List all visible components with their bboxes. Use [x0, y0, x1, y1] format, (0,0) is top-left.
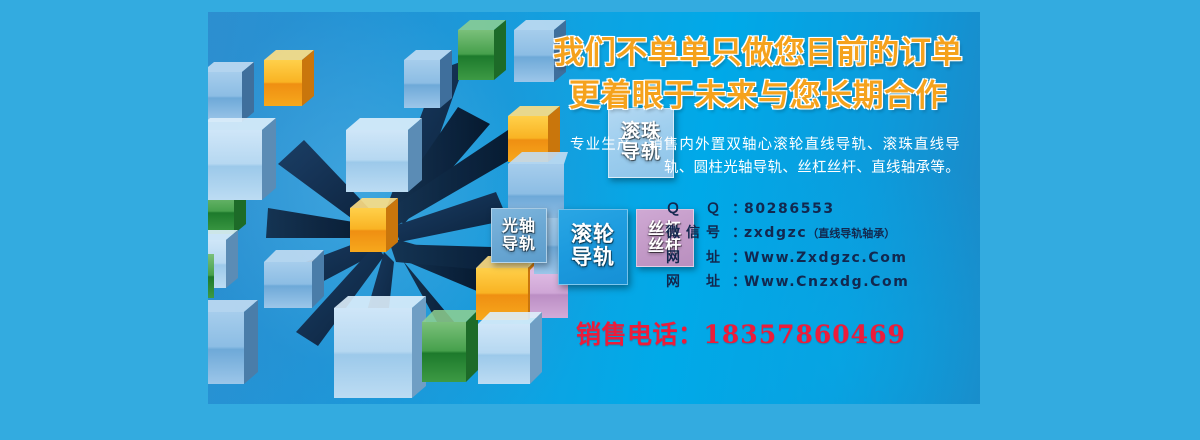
description-text: 专业生产、销售内外置双轴心滚轮直线导轨、滚珠直线导轨、圆柱光轴导轨、丝杠丝杆、直…: [548, 134, 968, 181]
contact-label-wechat: 微信号: [666, 221, 732, 245]
banner-text-column: 我们不单单只做您目前的订单 更着眼于未来与您长期合作 专业生产、销售内外置双轴心…: [548, 32, 968, 392]
contact-value-qq: 80286553: [744, 198, 835, 222]
contact-row-website-1: 网 址 ： Www.Zxdgzc.Com: [666, 246, 968, 271]
headline-line-1: 我们不单单只做您目前的订单: [548, 32, 968, 75]
contact-label-website: 网 址: [666, 246, 732, 270]
contact-row-wechat: 微信号 ： zxdgzc （直线导轨轴承）: [666, 221, 968, 246]
contact-colon: ：: [732, 221, 744, 245]
contact-value-website-1[interactable]: Www.Zxdgzc.Com: [744, 247, 908, 271]
contact-label-website: 网 址: [666, 270, 732, 294]
contact-colon: ：: [732, 197, 744, 221]
product-label-line2: 导轨: [502, 236, 536, 253]
contact-value-wechat: zxdgzc: [744, 222, 807, 246]
headline: 我们不单单只做您目前的订单 更着眼于未来与您长期合作: [548, 32, 968, 118]
sales-phone-label: 销售电话：: [576, 321, 704, 349]
promo-banner: 滚珠 导轨 光轴 导轨 滚轮 导轨 丝杠 丝杆 我们不单单只做您目前的订单 更着…: [0, 0, 1200, 440]
sales-phone-number: 18357860469: [704, 320, 906, 349]
contact-note-wechat: （直线导轨轴承）: [807, 225, 895, 243]
contact-row-qq: Ｑ Ｑ ： 80286553: [666, 197, 968, 222]
sales-phone: 销售电话：18357860469: [548, 315, 968, 351]
contact-colon: ：: [732, 270, 744, 294]
product-label-line1: 光轴: [502, 218, 536, 235]
product-label-guangzhou-daogui: 光轴 导轨: [491, 208, 547, 263]
contact-row-website-2: 网 址 ： Www.Cnzxdg.Com: [666, 270, 968, 295]
contact-value-website-2[interactable]: Www.Cnzxdg.Com: [744, 271, 909, 295]
contact-block: Ｑ Ｑ ： 80286553 微信号 ： zxdgzc （直线导轨轴承） 网 址…: [548, 197, 968, 295]
headline-line-2: 更着眼于未来与您长期合作: [548, 75, 968, 118]
banner-inner-panel: 滚珠 导轨 光轴 导轨 滚轮 导轨 丝杠 丝杆 我们不单单只做您目前的订单 更着…: [208, 12, 980, 404]
contact-label-qq: Ｑ Ｑ: [666, 197, 732, 221]
contact-colon: ：: [732, 246, 744, 270]
